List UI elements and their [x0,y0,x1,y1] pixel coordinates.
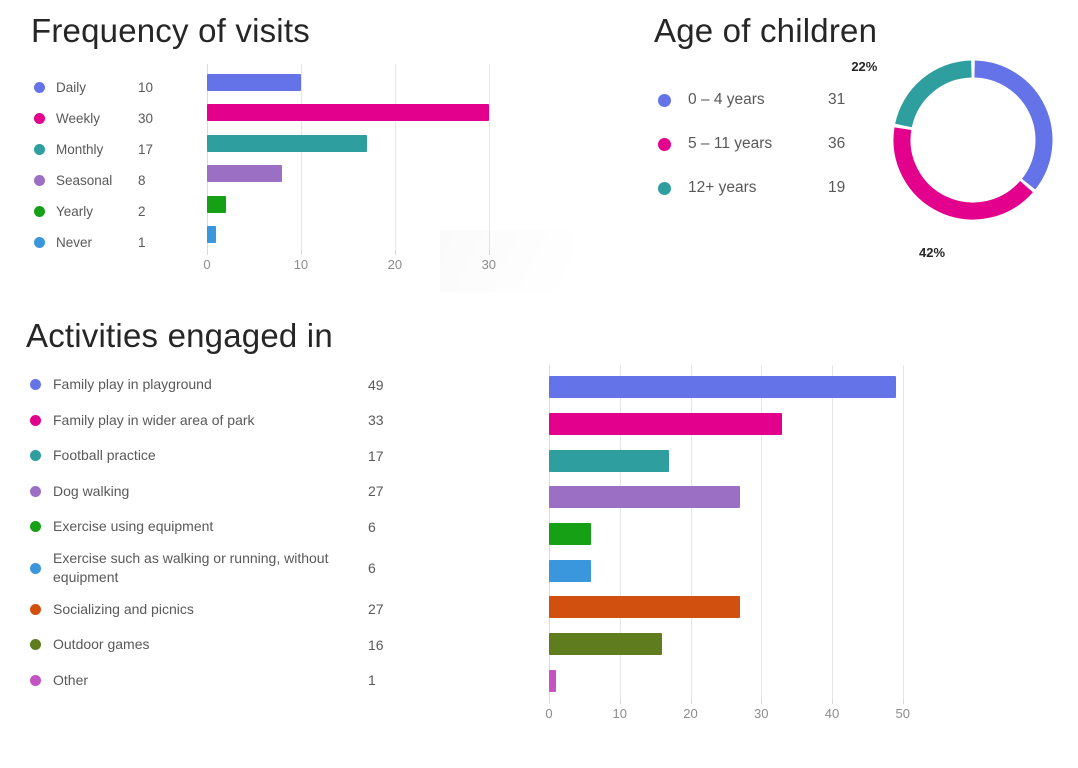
legend-item-label: Outdoor games [53,635,368,654]
legend-item-value: 10 [138,80,168,95]
legend-item-age-0[interactable]: 0 – 4 years31 [658,78,873,122]
axis-tick-label-x-10: 10 [613,706,627,721]
tick-mark-x-10 [620,699,621,704]
legend-item-label: Weekly [56,111,138,127]
legend-color-swatch-icon [34,82,45,93]
legend-item-label: Other [53,671,368,690]
axis-tick-label-x-20: 20 [388,257,402,272]
donut-percent-label-2: 22% [851,59,877,74]
bar-activities-engaged-in-5[interactable] [549,560,591,582]
axis-tick-label-x-0: 0 [203,257,210,272]
axis-line-zero [207,64,208,250]
legend-item-frequency-3[interactable]: Seasonal8 [34,165,194,196]
legend-color-swatch-icon [658,94,671,107]
legend-item-label: Yearly [56,204,138,220]
legend-item-activities-7[interactable]: Outdoor games16 [30,627,430,663]
legend-item-value: 31 [828,91,862,109]
legend-item-value: 8 [138,173,168,188]
legend-color-swatch-icon [30,604,41,615]
legend-item-label: Exercise such as walking or running, wit… [53,549,368,587]
donut-slice-2[interactable] [903,69,971,126]
legend-item-label: 5 – 11 years [688,136,828,152]
bar-activities-engaged-in-0[interactable] [549,376,896,398]
tick-mark-x-50 [903,699,904,704]
tick-mark-x-10 [301,250,302,255]
chart-title-frequency-of-visits: Frequency of visits [31,12,310,50]
legend-item-label: Family play in wider area of park [53,411,368,430]
legend-frequency-of-visits: Daily10Weekly30Monthly17Seasonal8Yearly2… [34,72,194,258]
legend-item-value: 17 [138,142,168,157]
donut-slice-0[interactable] [975,69,1044,184]
legend-item-age-2[interactable]: 12+ years19 [658,166,873,210]
bar-activities-engaged-in-6[interactable] [549,596,740,618]
axis-tick-label-x-40: 40 [825,706,839,721]
bar-frequency-of-visits-4[interactable] [207,196,226,213]
legend-item-label: Family play in playground [53,375,368,394]
legend-color-swatch-icon [30,415,41,426]
legend-item-value: 2 [138,204,168,219]
donut-slice-1[interactable] [902,129,1027,211]
gridline-x-50 [903,365,904,699]
legend-color-swatch-icon [658,182,671,195]
legend-item-frequency-2[interactable]: Monthly17 [34,134,194,165]
legend-item-label: Seasonal [56,173,138,189]
bar-activities-engaged-in-3[interactable] [549,486,740,508]
chart-panel-age-of-children: Age of children 0 – 4 years315 – 11 year… [640,0,1078,270]
bar-activities-engaged-in-7[interactable] [549,633,662,655]
axis-tick-label-x-30: 30 [754,706,768,721]
legend-color-swatch-icon [34,144,45,155]
legend-item-activities-4[interactable]: Exercise using equipment6 [30,509,430,545]
legend-color-swatch-icon [34,113,45,124]
legend-item-value: 19 [828,179,862,197]
gridline-x-40 [832,365,833,699]
tick-mark-x-30 [489,250,490,255]
gridline-x-20 [395,64,396,250]
bar-frequency-of-visits-3[interactable] [207,165,282,182]
legend-item-value: 27 [368,601,408,617]
axis-tick-label-x-20: 20 [683,706,697,721]
legend-color-swatch-icon [30,521,41,532]
legend-item-value: 16 [368,637,408,653]
legend-item-frequency-1[interactable]: Weekly30 [34,103,194,134]
gridline-x-30 [489,64,490,250]
legend-item-age-1[interactable]: 5 – 11 years36 [658,122,873,166]
tick-mark-x-20 [691,699,692,704]
legend-item-value: 27 [368,483,408,499]
bar-frequency-of-visits-2[interactable] [207,135,367,152]
legend-color-swatch-icon [30,450,41,461]
gridline-x-10 [301,64,302,250]
legend-activities-engaged-in: Family play in playground49Family play i… [30,367,430,698]
legend-item-label: 12+ years [688,180,828,196]
chart-title-activities-engaged-in: Activities engaged in [26,317,333,355]
charts-dashboard: { "palette": { "periwinkle": "#6573E8", … [0,0,1078,768]
bar-frequency-of-visits-5[interactable] [207,226,216,243]
legend-color-swatch-icon [34,206,45,217]
bar-activities-engaged-in-8[interactable] [549,670,556,692]
tick-mark-x-20 [395,250,396,255]
chart-panel-frequency-of-visits: Frequency of visits Daily10Weekly30Month… [0,0,600,300]
plot-area-frequency-of-visits: 0102030 [207,64,517,250]
axis-tick-label-x-0: 0 [545,706,552,721]
legend-item-value: 36 [828,135,862,153]
chart-panel-activities-engaged-in: Activities engaged in Family play in pla… [0,305,1078,745]
legend-item-value: 6 [368,560,408,576]
legend-color-swatch-icon [658,138,671,151]
legend-item-value: 49 [368,377,408,393]
bar-activities-engaged-in-1[interactable] [549,413,782,435]
plot-area-activities-engaged-in: 01020304050 [549,365,924,699]
legend-item-label: Monthly [56,142,138,158]
legend-color-swatch-icon [30,675,41,686]
tick-mark-x-0 [207,250,208,255]
legend-color-swatch-icon [30,486,41,497]
legend-item-frequency-0[interactable]: Daily10 [34,72,194,103]
legend-color-swatch-icon [30,379,41,390]
axis-tick-label-x-50: 50 [896,706,910,721]
legend-item-frequency-4[interactable]: Yearly2 [34,196,194,227]
donut-chart-age-of-children: 36%42%22% [883,50,1063,230]
legend-item-activities-2[interactable]: Football practice17 [30,438,430,474]
tick-mark-x-0 [549,699,550,704]
legend-color-swatch-icon [34,175,45,186]
legend-item-value: 1 [368,672,408,688]
bar-frequency-of-visits-0[interactable] [207,74,301,91]
legend-item-label: Dog walking [53,482,368,501]
tick-mark-x-30 [761,699,762,704]
donut-percent-label-1: 42% [919,245,945,260]
legend-item-value: 30 [138,111,168,126]
legend-item-label: Football practice [53,446,368,465]
legend-item-value: 17 [368,448,408,464]
legend-item-label: Exercise using equipment [53,517,368,536]
legend-item-label: Daily [56,80,138,96]
legend-item-label: Never [56,235,138,251]
donut-svg [883,50,1063,230]
legend-item-value: 1 [138,235,168,250]
legend-item-activities-3[interactable]: Dog walking27 [30,474,430,510]
tick-mark-x-40 [832,699,833,704]
chart-title-age-of-children: Age of children [654,12,877,50]
legend-color-swatch-icon [30,639,41,650]
legend-item-label: Socializing and picnics [53,600,368,619]
legend-item-value: 6 [368,519,408,535]
legend-item-activities-8[interactable]: Other1 [30,663,430,699]
legend-color-swatch-icon [34,237,45,248]
legend-item-frequency-5[interactable]: Never1 [34,227,194,258]
legend-item-activities-1[interactable]: Family play in wider area of park33 [30,403,430,439]
legend-age-of-children: 0 – 4 years315 – 11 years3612+ years19 [658,78,873,210]
legend-item-value: 33 [368,412,408,428]
legend-item-activities-5[interactable]: Exercise such as walking or running, wit… [30,545,430,592]
legend-item-activities-6[interactable]: Socializing and picnics27 [30,592,430,628]
bar-frequency-of-visits-1[interactable] [207,104,489,121]
legend-item-label: 0 – 4 years [688,92,828,108]
axis-tick-label-x-30: 30 [482,257,496,272]
bar-activities-engaged-in-2[interactable] [549,450,669,472]
bar-activities-engaged-in-4[interactable] [549,523,591,545]
legend-item-activities-0[interactable]: Family play in playground49 [30,367,430,403]
legend-color-swatch-icon [30,563,41,574]
axis-tick-label-x-10: 10 [294,257,308,272]
